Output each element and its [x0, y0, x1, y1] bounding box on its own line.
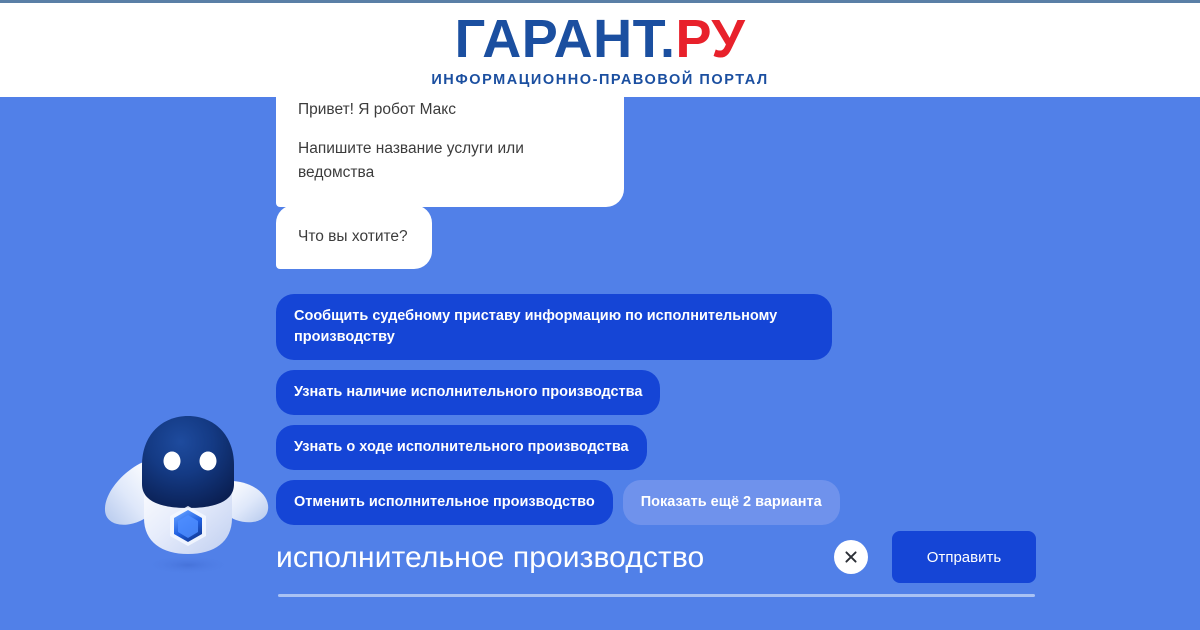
- clear-input-button[interactable]: [834, 540, 868, 574]
- page-root: Привет! Я робот Макс Напишите название у…: [0, 0, 1200, 630]
- mascot-head: [142, 416, 234, 508]
- close-x-icon: [843, 549, 859, 565]
- chip-row-2: Узнать наличие исполнительного производс…: [276, 370, 1036, 415]
- greeting-line-1: Привет! Я робот Макс: [298, 98, 602, 122]
- garant-logo[interactable]: ГАРАНТ.РУ ИНФОРМАЦИОННО-ПРАВОВОЙ ПОРТАЛ: [431, 12, 768, 88]
- mascot-left-eye: [164, 452, 181, 471]
- chip-row-4: Отменить исполнительное производство Пок…: [276, 480, 1036, 525]
- logo-dot: .: [660, 9, 676, 69]
- mascot-right-eye: [200, 452, 217, 471]
- send-button[interactable]: Отправить: [892, 531, 1036, 583]
- site-header: ГАРАНТ.РУ ИНФОРМАЦИОННО-ПРАВОВОЙ ПОРТАЛ: [0, 3, 1200, 97]
- logo-word-garant: ГАРАНТ: [455, 9, 660, 69]
- suggestion-chip-cancel-proceeding[interactable]: Отменить исполнительное производство: [276, 480, 613, 525]
- top-hairline: [0, 0, 1200, 3]
- logo-wordmark: ГАРАНТ.РУ: [431, 12, 768, 66]
- greeting-line-2: Напишите название услуги или ведомства: [298, 137, 602, 185]
- suggestion-chip-check-existence[interactable]: Узнать наличие исполнительного производс…: [276, 370, 660, 415]
- composer-row: Отправить: [276, 528, 1036, 586]
- composer-underline: [278, 594, 1035, 597]
- bot-message-question: Что вы хотите?: [276, 205, 432, 269]
- chip-row-3: Узнать о ходе исполнительного производст…: [276, 425, 1036, 470]
- robot-max-mascot: [96, 402, 278, 584]
- suggestion-chip-check-progress[interactable]: Узнать о ходе исполнительного производст…: [276, 425, 647, 470]
- chip-row-1: Сообщить судебному приставу информацию п…: [276, 294, 1036, 360]
- suggestion-chip-list: Сообщить судебному приставу информацию п…: [276, 294, 1036, 535]
- suggestion-chip-show-more[interactable]: Показать ещё 2 варианта: [623, 480, 840, 525]
- logo-tagline: ИНФОРМАЦИОННО-ПРАВОВОЙ ПОРТАЛ: [431, 73, 768, 88]
- message-input[interactable]: [276, 541, 816, 574]
- suggestion-chip-report-to-bailiff[interactable]: Сообщить судебному приставу информацию п…: [276, 294, 832, 360]
- logo-word-ru: РУ: [675, 9, 745, 69]
- question-text: Что вы хотите?: [298, 225, 408, 249]
